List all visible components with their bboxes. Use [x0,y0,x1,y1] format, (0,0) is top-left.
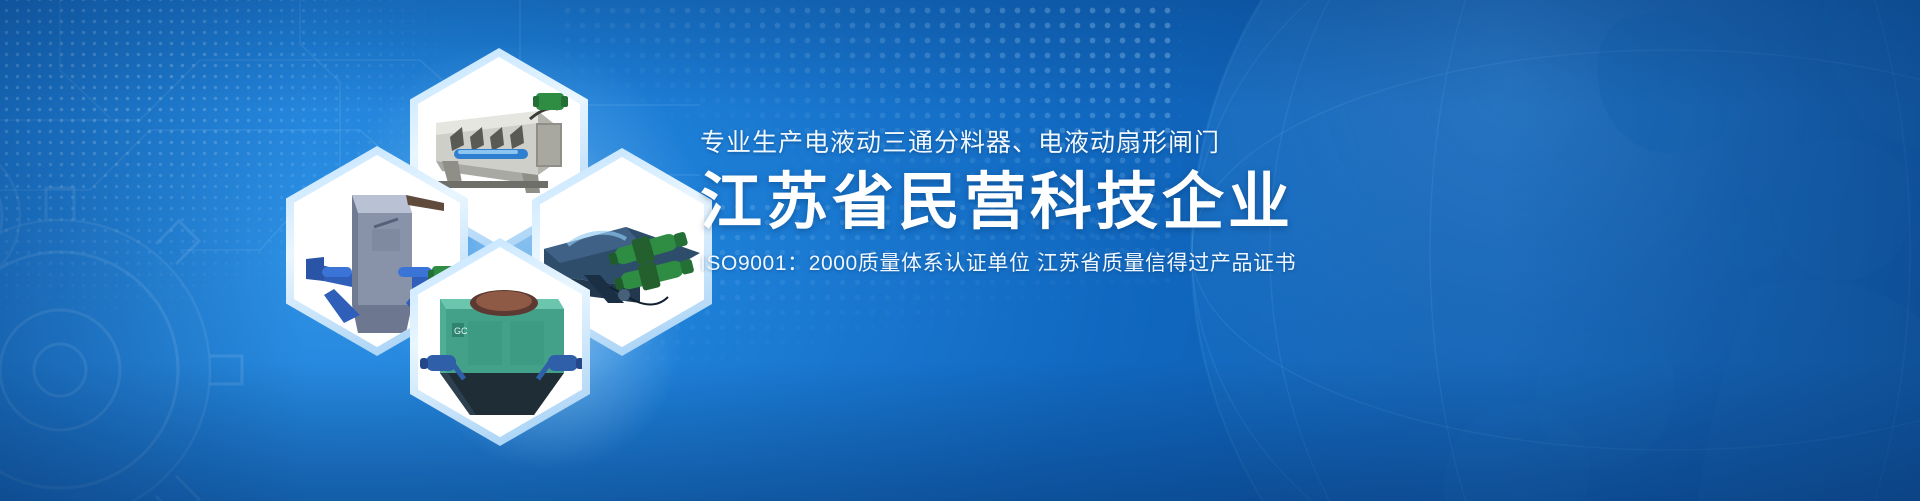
svg-text:GC: GC [454,326,468,336]
banner-tagline: 专业生产电液动三通分料器、电液动扇形闸门 [700,128,1740,158]
banner-copy: 专业生产电液动三通分料器、电液动扇形闸门 江苏省民营科技企业 ISO9001：2… [700,128,1740,276]
company-banner: GC [0,0,1920,501]
banner-headline: 江苏省民营科技企业 [700,170,1740,237]
product-hexagon-cluster: GC [286,48,706,448]
banner-certifications: ISO9001：2000质量体系认证单位 江苏省质量信得过产品证书 [700,251,1740,276]
